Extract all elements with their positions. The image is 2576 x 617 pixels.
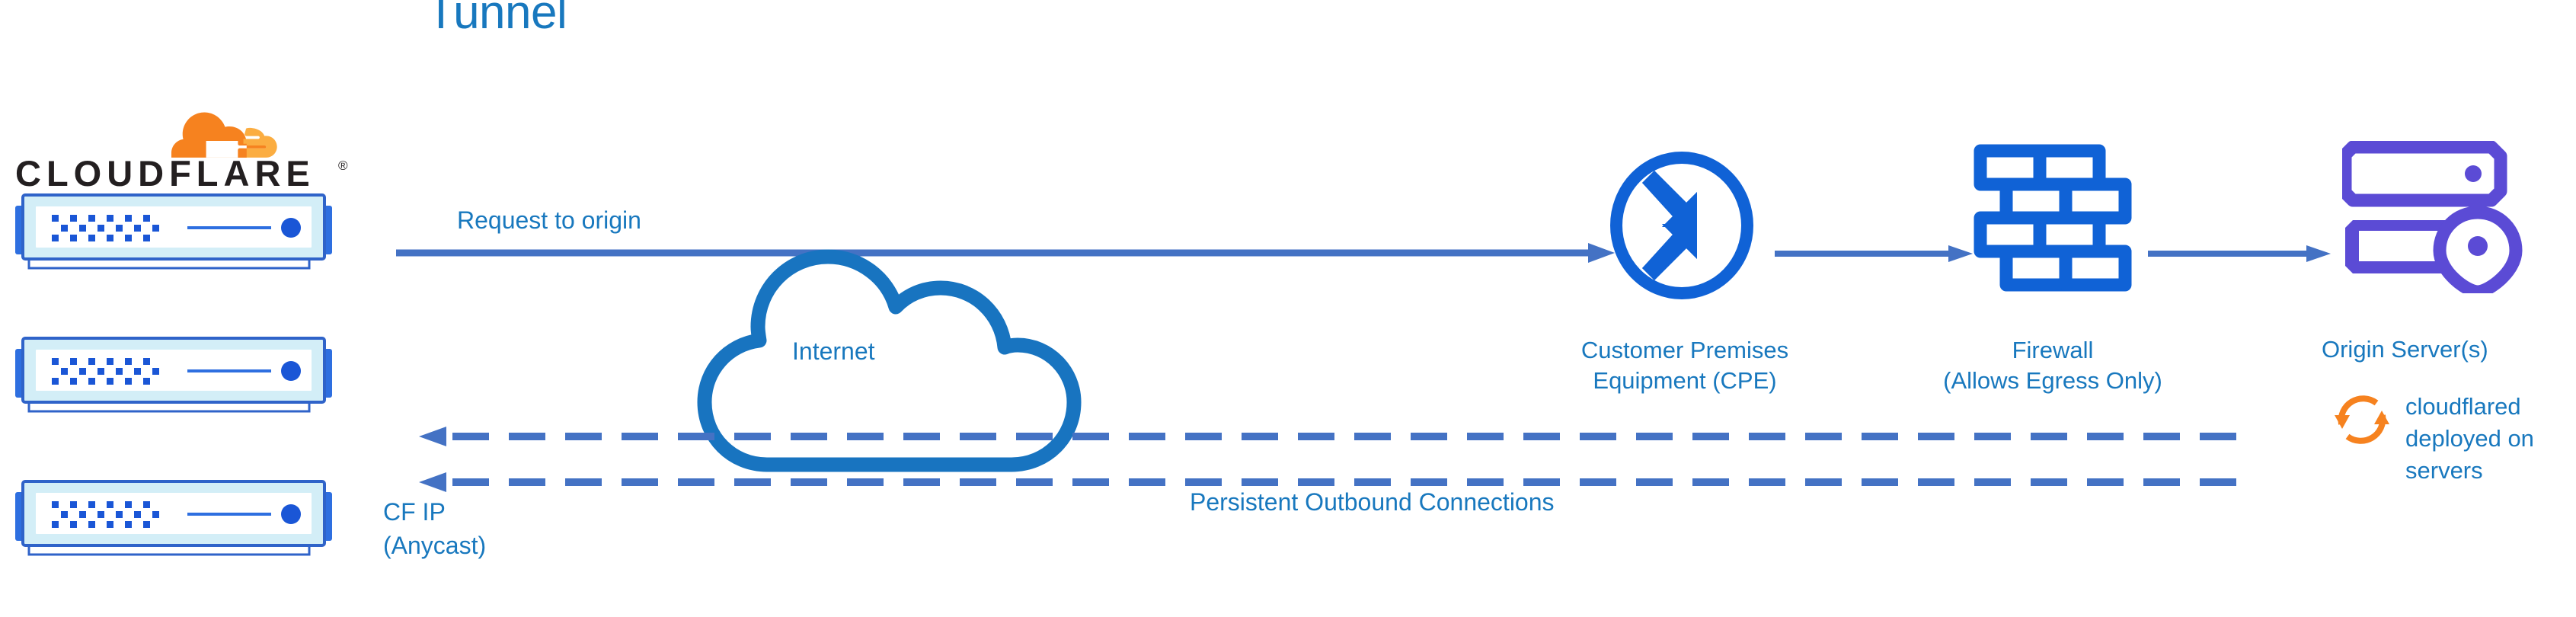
- server-rack-pin-icon: [2342, 141, 2525, 293]
- cloudflared-sync-icon-wrapper: [2332, 390, 2392, 449]
- return-path-arrow-top: [419, 427, 2247, 446]
- switch-device-icon: [6, 187, 341, 273]
- edge-device-2: [6, 331, 341, 416]
- edge-device-1: [6, 187, 341, 273]
- cpe-label-line1: Customer Premises: [1540, 335, 1830, 366]
- cloudflared-label: cloudflared deployed on servers: [2405, 391, 2534, 487]
- cloudflare-trademark: ®: [338, 158, 348, 173]
- switch-device-icon: [6, 474, 341, 559]
- cpe-icon-wrapper: [1607, 151, 1756, 300]
- cpe-label: Customer Premises Equipment (CPE): [1540, 335, 1830, 396]
- cpe-to-firewall-arrow: [1775, 244, 1973, 264]
- cpe-label-line2: Equipment (CPE): [1540, 366, 1830, 396]
- firewall-label-line1: Firewall: [1881, 335, 2224, 366]
- cloudflare-logo: CLOUDFLARE ®: [15, 110, 358, 194]
- cloudflared-label-line1: cloudflared: [2405, 391, 2534, 423]
- brick-wall-icon: [1973, 143, 2133, 293]
- firewall-to-origin-arrow: [2148, 244, 2331, 264]
- cf-ip-label-line2: (Anycast): [383, 529, 486, 562]
- circular-sync-arrows-icon: [2332, 390, 2392, 449]
- switch-device-icon: [6, 331, 341, 416]
- cloudflared-label-line2: deployed on: [2405, 423, 2534, 455]
- origin-server-label: Origin Server(s): [2322, 335, 2488, 364]
- cloudflared-label-line3: servers: [2405, 455, 2534, 487]
- persistent-outbound-connections-label: Persistent Outbound Connections: [1190, 488, 1555, 516]
- firewall-label-line2: (Allows Egress Only): [1881, 366, 2224, 396]
- router-four-arrows-icon: [1607, 151, 1756, 300]
- internet-label: Internet: [792, 337, 875, 366]
- cf-ip-label-line1: CF IP: [383, 495, 486, 529]
- request-to-origin-label: Request to origin: [457, 206, 641, 235]
- tunnel-diagram: Tunnel CLOUDFLARE ®: [0, 0, 2576, 617]
- origin-server-icon-wrapper: [2342, 141, 2525, 293]
- page-title: Tunnel: [427, 0, 567, 27]
- cloudflare-cloud-logo: CLOUDFLARE ®: [15, 110, 358, 196]
- firewall-label: Firewall (Allows Egress Only): [1881, 335, 2224, 396]
- firewall-icon-wrapper: [1973, 143, 2133, 293]
- cf-ip-label: CF IP (Anycast): [383, 495, 486, 562]
- edge-device-3: [6, 474, 341, 559]
